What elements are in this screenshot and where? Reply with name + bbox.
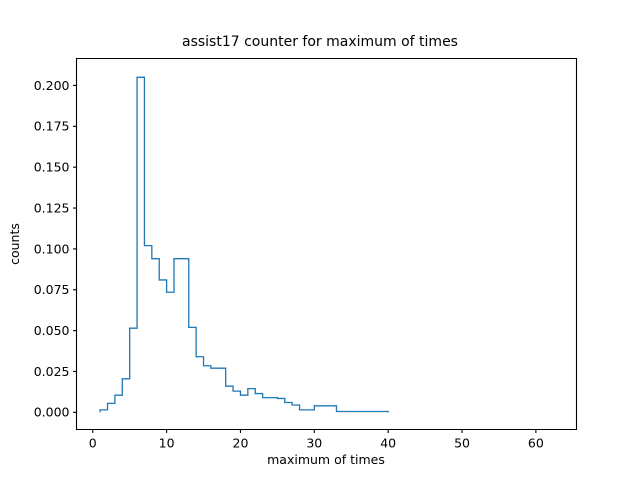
x-tick-label: 10 (159, 436, 175, 451)
y-axis-ticks: 0.0000.0250.0500.0750.1000.1250.1500.175… (34, 78, 77, 420)
x-axis-label: maximum of times (267, 452, 385, 467)
y-tick-label: 0.150 (34, 160, 70, 175)
y-tick-label: 0.200 (34, 78, 70, 93)
figure-canvas: 0102030405060 0.0000.0250.0500.0750.1000… (0, 0, 640, 480)
y-axis-label: counts (7, 223, 22, 265)
axes-background (76, 58, 576, 429)
y-tick-label: 0.025 (34, 364, 70, 379)
y-tick-label: 0.075 (34, 282, 70, 297)
y-tick-label: 0.000 (34, 405, 70, 420)
y-tick-label: 0.100 (34, 241, 70, 256)
x-axis-ticks: 0102030405060 (89, 430, 544, 451)
chart-title: assist17 counter for maximum of times (182, 34, 458, 50)
x-tick-label: 60 (528, 436, 544, 451)
x-tick-label: 0 (89, 436, 97, 451)
y-tick-label: 0.050 (34, 323, 70, 338)
x-tick-label: 40 (380, 436, 396, 451)
y-tick-label: 0.175 (34, 119, 70, 134)
plot-area: 0102030405060 0.0000.0250.0500.0750.1000… (34, 58, 577, 451)
chart-svg: 0102030405060 0.0000.0250.0500.0750.1000… (0, 0, 640, 480)
x-tick-label: 20 (233, 436, 249, 451)
y-tick-label: 0.125 (34, 200, 70, 215)
x-tick-label: 50 (454, 436, 470, 451)
x-tick-label: 30 (306, 436, 322, 451)
